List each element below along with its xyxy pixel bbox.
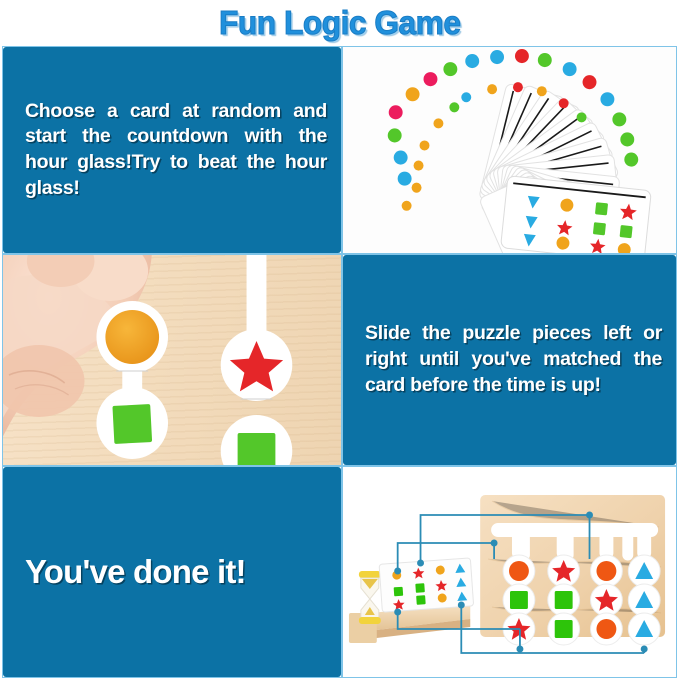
puzzle-piece-right [221, 255, 293, 465]
board-column-4 [628, 555, 660, 645]
board-illustration [343, 467, 676, 677]
panel-hand-puzzle-pieces [2, 254, 342, 466]
panel-card-fan [342, 46, 677, 254]
front-card [501, 176, 652, 253]
board-column-3 [591, 555, 623, 645]
card-fan-illustration [343, 47, 676, 253]
puzzle-piece-left [96, 301, 168, 459]
hand-puzzle-photo [3, 255, 341, 465]
panel-board-diagram [342, 466, 677, 678]
page-title: Fun Logic Game [219, 4, 460, 42]
blue-text-panel: Slide the puzzle pieces left or right un… [343, 255, 676, 465]
board-column-2 [548, 555, 580, 645]
hand-illustration [3, 255, 341, 465]
hourglass [359, 571, 381, 624]
title-bar: Fun Logic Game [0, 0, 679, 46]
instruction-text: Choose a card at random and start the co… [25, 99, 327, 202]
success-text: You've done it! [25, 554, 246, 590]
blue-text-panel: You've done it! [3, 467, 341, 677]
panel-instruction-choose-card: Choose a card at random and start the co… [2, 46, 342, 254]
panel-success-message: You've done it! [2, 466, 342, 678]
wooden-board [480, 495, 665, 645]
instruction-text: Slide the puzzle pieces left or right un… [365, 321, 662, 398]
panel-grid: Choose a card at random and start the co… [2, 46, 677, 678]
blue-text-panel: Choose a card at random and start the co… [3, 47, 341, 253]
board-column-1 [503, 555, 535, 645]
product-infographic: Fun Logic Game Choose a card at random a… [0, 0, 679, 681]
panel-instruction-slide-pieces: Slide the puzzle pieces left or right un… [342, 254, 677, 466]
card-fan-photo [343, 47, 676, 253]
